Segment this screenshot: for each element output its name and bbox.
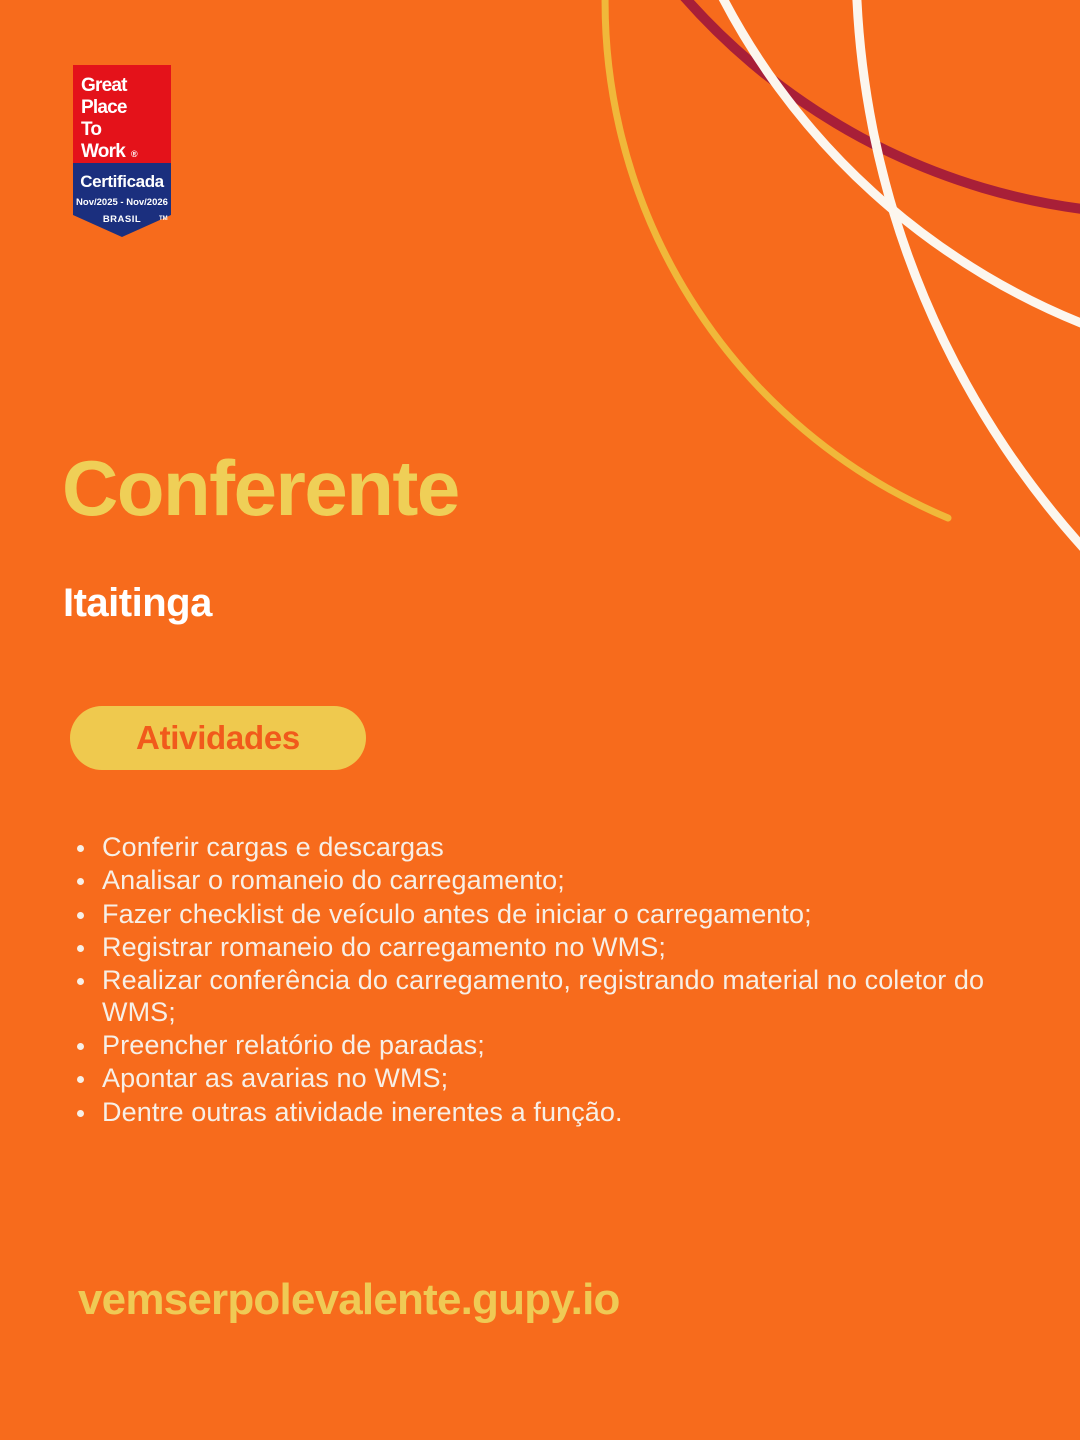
gptw-certification-badge: Great Place To Work ® Certificada Nov/20… <box>73 65 171 237</box>
badge-registered-mark: ® <box>131 149 138 159</box>
badge-validity: Nov/2025 - Nov/2026 <box>76 197 168 208</box>
badge-line-to: To <box>81 119 101 140</box>
activities-list: Conferir cargas e descargas Analisar o r… <box>64 832 1044 1130</box>
job-posting-poster: Great Place To Work ® Certificada Nov/20… <box>0 0 1080 1440</box>
list-item: Dentre outras atividade inerentes a funç… <box>64 1097 1044 1128</box>
careers-site-url[interactable]: vemserpolevalente.gupy.io <box>78 1278 620 1322</box>
badge-country: BRASIL <box>103 214 141 225</box>
badge-line-great: Great <box>81 75 128 96</box>
arc-white-middle <box>709 0 1080 334</box>
list-item: Registrar romaneio do carregamento no WM… <box>64 932 1044 963</box>
list-item: Preencher relatório de paradas; <box>64 1030 1044 1061</box>
list-item: Analisar o romaneio do carregamento; <box>64 865 1044 896</box>
badge-trademark: TM <box>159 216 168 222</box>
section-pill-atividades: Atividades <box>70 706 366 770</box>
arc-white-outer <box>856 0 1080 576</box>
arc-yellow-inner <box>605 0 948 518</box>
list-item: Fazer checklist de veículo antes de inic… <box>64 899 1044 930</box>
list-item: Conferir cargas e descargas <box>64 832 1044 863</box>
list-item: Realizar conferência do carregamento, re… <box>64 965 1044 1028</box>
arc-crimson <box>662 0 1080 212</box>
list-item: Apontar as avarias no WMS; <box>64 1063 1044 1094</box>
job-location: Itaitinga <box>63 583 212 623</box>
badge-certified-label: Certificada <box>80 172 164 191</box>
job-title: Conferente <box>62 449 459 527</box>
section-pill-label: Atividades <box>136 719 300 757</box>
badge-line-work: Work <box>81 141 126 162</box>
badge-line-place: Place <box>81 97 127 118</box>
